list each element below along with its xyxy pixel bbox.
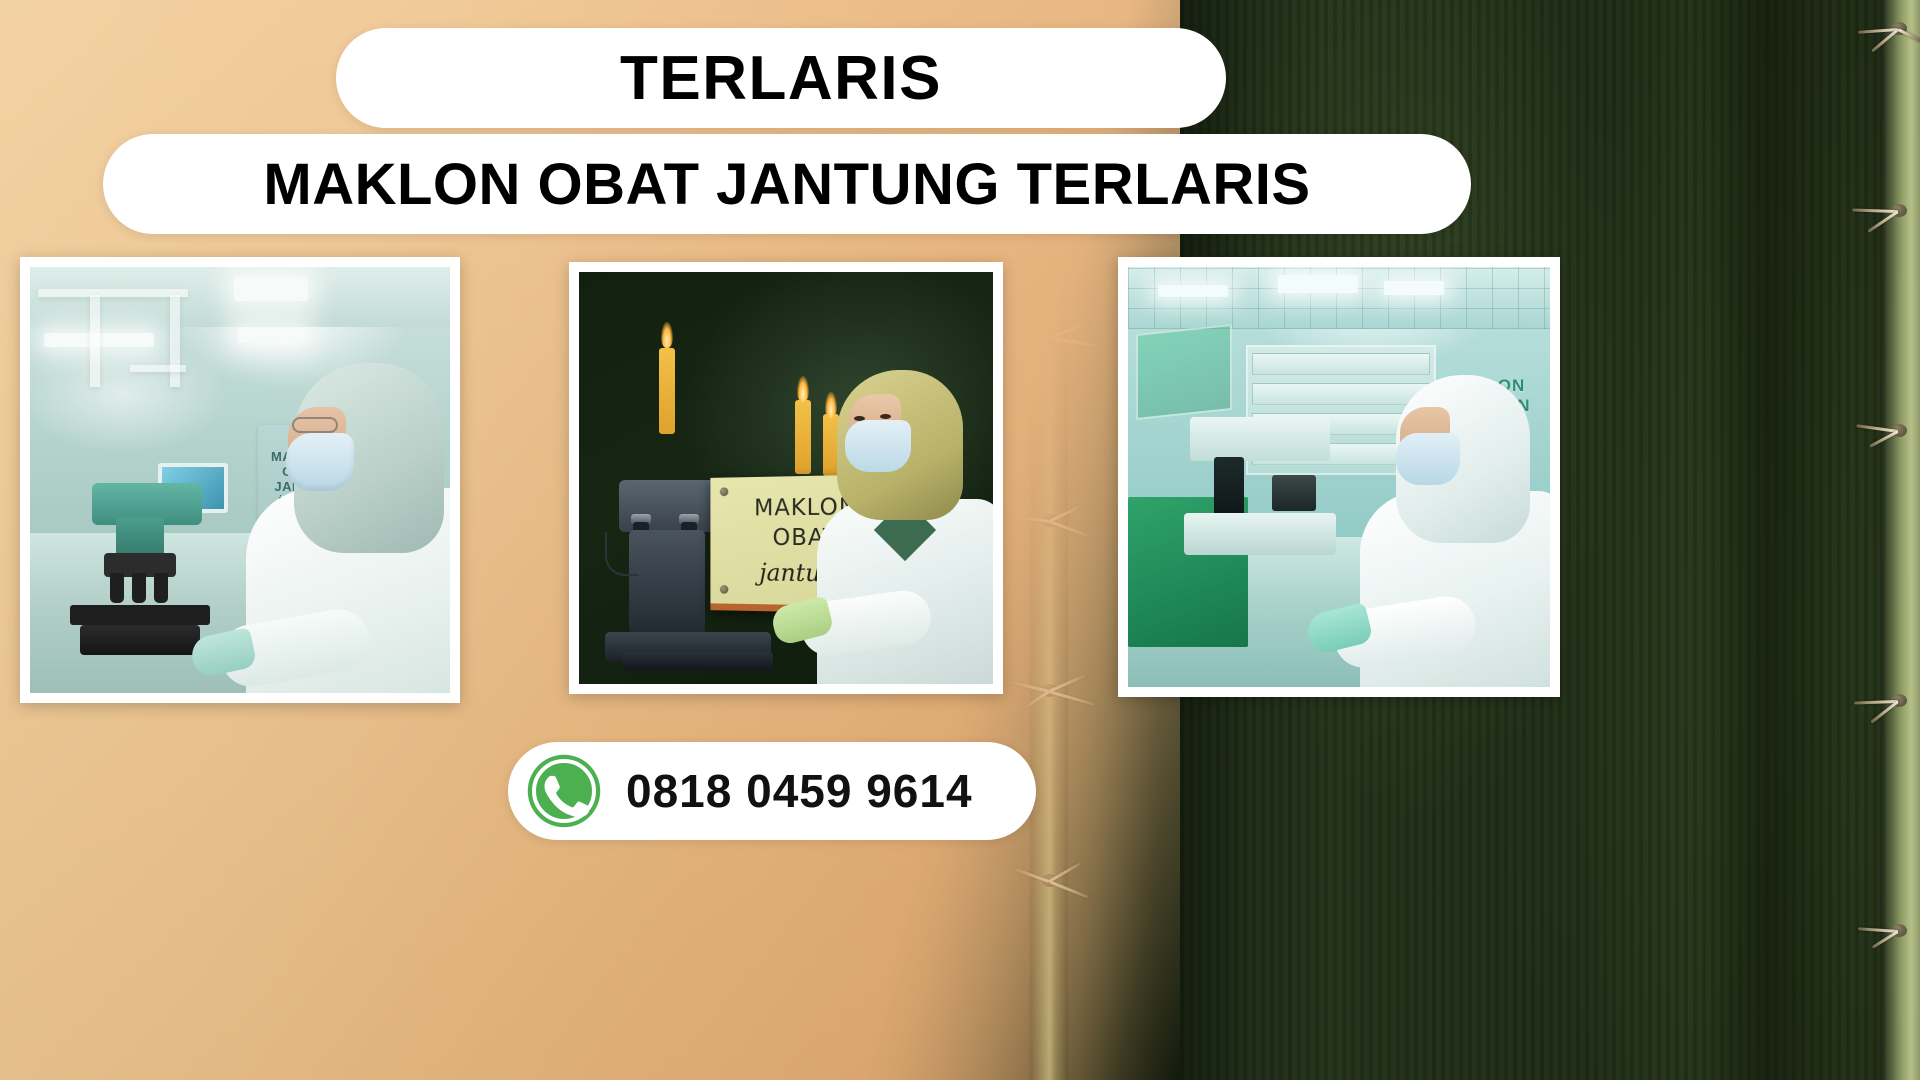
- photo-2-sign-presentation: MAKLON OBAT jantung: [579, 272, 993, 684]
- instrument-column: [1214, 457, 1244, 515]
- microscope-neck: [116, 517, 164, 557]
- microscope-base: [80, 625, 200, 655]
- candle-flame: [661, 322, 673, 348]
- badge-label: TERLARIS: [620, 43, 942, 114]
- microscope-objective: [110, 573, 124, 603]
- ceiling-lamp: [238, 327, 304, 343]
- ceiling-lamp: [1278, 275, 1358, 293]
- shelf-post: [90, 295, 100, 387]
- fume-hood-glass: [1136, 324, 1232, 420]
- microscope-stage: [70, 605, 210, 625]
- eyeglasses: [292, 417, 338, 433]
- headline-label: MAKLON OBAT JANTUNG TERLARIS: [263, 151, 1310, 218]
- lab-technician: [226, 363, 450, 693]
- cactus-stem-2: [1880, 0, 1920, 1080]
- photo-3-bright-lab: MAKLON MAKL_ON OBAT jantung: [1128, 267, 1550, 687]
- eye: [880, 414, 891, 419]
- instrument-cable: [605, 532, 639, 576]
- sign-screw: [720, 487, 729, 496]
- researcher: [807, 354, 993, 684]
- instrument-base: [1184, 513, 1336, 555]
- microscope: [46, 465, 226, 655]
- shelf: [38, 289, 188, 297]
- shelf-post: [170, 295, 180, 387]
- face-mask: [286, 433, 354, 491]
- candle: [659, 348, 675, 434]
- lab-worker: [1346, 367, 1550, 687]
- instrument-panel: [1272, 475, 1316, 511]
- sign-screw: [720, 585, 729, 594]
- photo-frame-2: MAKLON OBAT jantung: [569, 262, 1003, 694]
- contact-bar[interactable]: 0818 0459 9614: [508, 742, 1036, 840]
- microscope-objective: [132, 573, 146, 603]
- phone-number[interactable]: 0818 0459 9614: [626, 764, 973, 818]
- face-mask: [845, 420, 911, 472]
- shelf: [130, 365, 186, 372]
- photo-1-lab-microscope: MAKLON OBAT JANATT jantung: [30, 267, 450, 693]
- microscope-objective: [154, 573, 168, 603]
- ceiling-lamp: [234, 277, 308, 301]
- ceiling-lamp: [1384, 281, 1444, 295]
- photo-frame-1: MAKLON OBAT JANATT jantung: [20, 257, 460, 703]
- cactus-shadow-2: [1700, 0, 1850, 1080]
- instrument-base-lower: [623, 652, 773, 670]
- face-mask: [1396, 433, 1460, 485]
- instrument-top: [1190, 417, 1330, 461]
- instrument-body: [629, 530, 705, 634]
- whatsapp-icon[interactable]: [524, 751, 604, 831]
- lab-instrument: [1180, 417, 1340, 567]
- headline-banner: MAKLON OBAT JANTUNG TERLARIS: [103, 134, 1471, 234]
- badge-terlaris: TERLARIS: [336, 28, 1226, 128]
- promo-banner: TERLARIS MAKLON OBAT JANTUNG TERLARIS MA…: [0, 0, 1920, 1080]
- ceiling-lamp: [1158, 285, 1228, 297]
- photo-frame-3: MAKLON MAKL_ON OBAT jantung: [1118, 257, 1560, 697]
